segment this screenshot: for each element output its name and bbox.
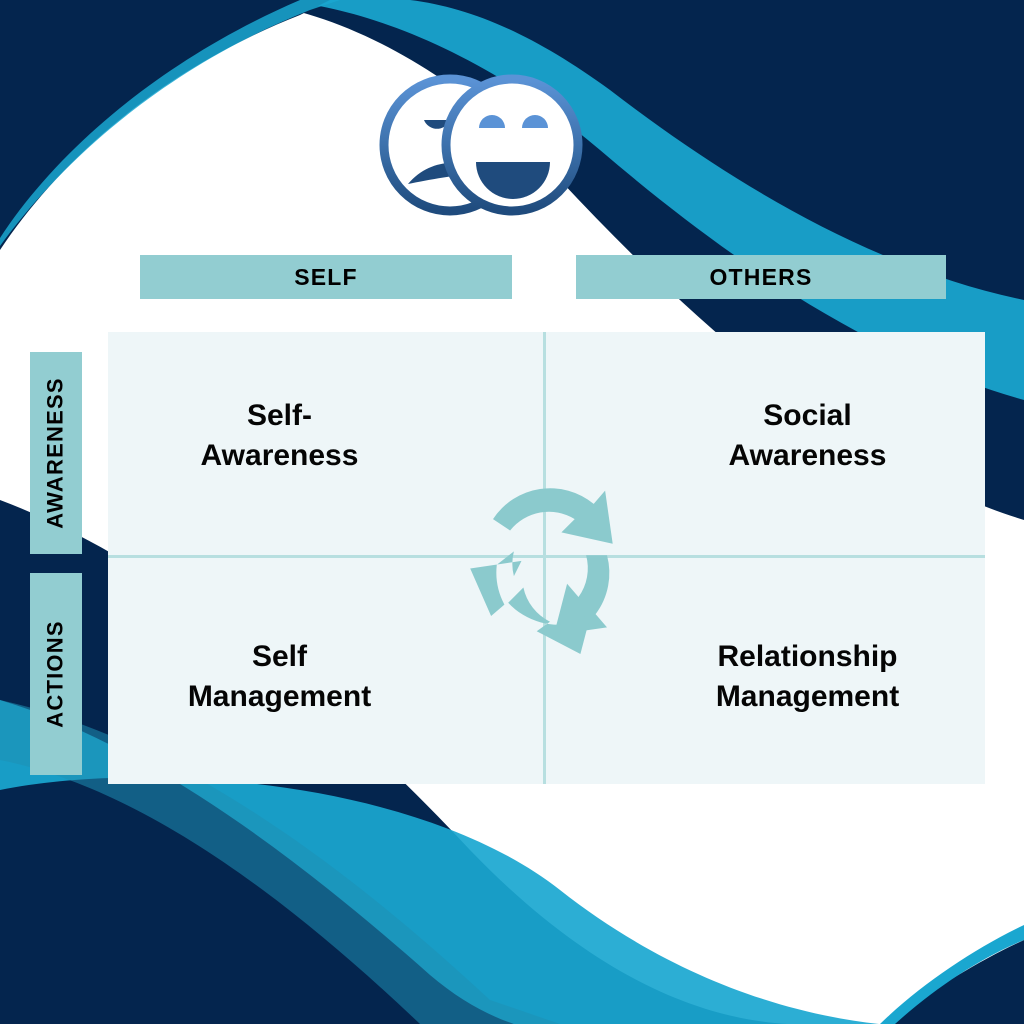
- quadrant-self-management-line1: Self: [188, 637, 371, 677]
- swoosh-bottom-right-navy: [890, 940, 1024, 1024]
- column-header-others: OTHERS: [576, 255, 946, 299]
- cycle-arrow-top: [493, 488, 613, 544]
- cycle-arrows-icon: [455, 464, 645, 654]
- quadrant-relationship-management-line2: Management: [716, 677, 899, 717]
- swoosh-bottom-right-cyan: [880, 925, 1024, 1024]
- quadrant-self-management-line2: Management: [188, 677, 371, 717]
- column-header-self-label: SELF: [294, 264, 358, 291]
- row-header-actions-label: ACTIONS: [43, 620, 69, 727]
- infographic-canvas: SELF OTHERS AWARENESS ACTIONS Self- Awar…: [0, 0, 1024, 1024]
- quadrant-self-awareness-line1: Self-: [201, 396, 359, 436]
- quadrant-social-awareness-line2: Awareness: [729, 436, 887, 476]
- swoosh-top-left-cyan: [0, 0, 340, 246]
- column-header-others-label: OTHERS: [709, 264, 812, 291]
- quadrant-relationship-management-line1: Relationship: [716, 637, 899, 677]
- quadrant-self-awareness-line2: Awareness: [201, 436, 359, 476]
- row-header-awareness-label: AWARENESS: [43, 377, 69, 528]
- quadrant-social-awareness-line1: Social: [729, 396, 887, 436]
- row-header-awareness: AWARENESS: [30, 352, 82, 554]
- row-header-actions: ACTIONS: [30, 573, 82, 775]
- two-faces-icon: [372, 62, 588, 228]
- column-header-self: SELF: [140, 255, 512, 299]
- swoosh-top-left-navy: [0, 0, 330, 250]
